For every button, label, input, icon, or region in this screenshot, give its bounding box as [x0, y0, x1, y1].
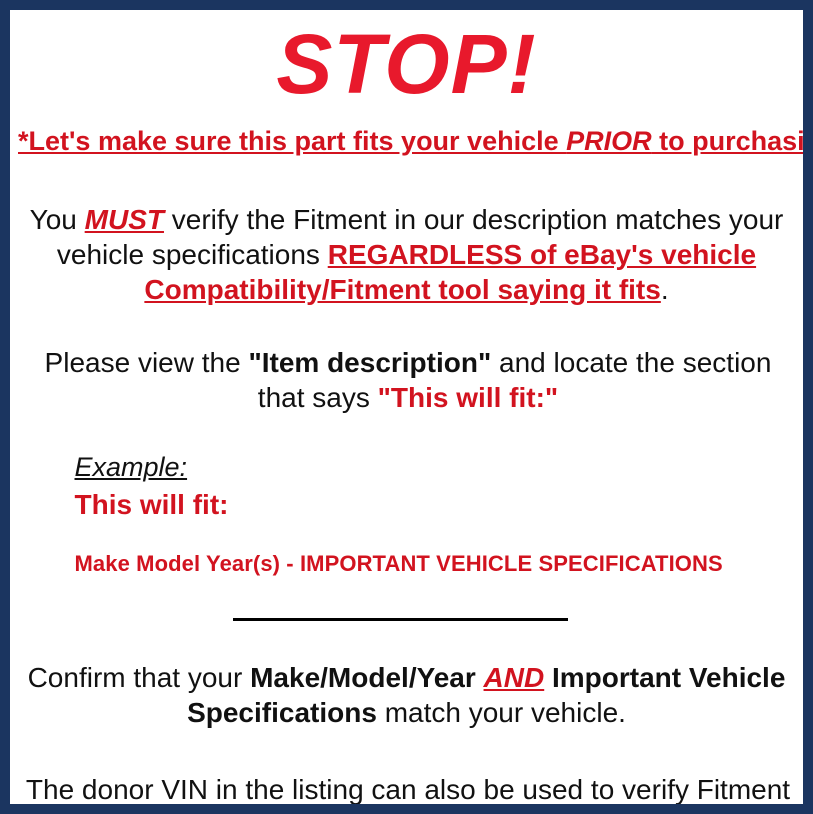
example-label: Example: — [37, 451, 777, 483]
paragraph-donor-vin: The donor VIN in the listing can also be… — [18, 730, 798, 814]
must-paragraph-seg1: You — [30, 204, 85, 235]
example-block: Example: This will fit: Make Model Year(… — [37, 415, 777, 578]
tagline-banner: *Let's make sure this part fits your veh… — [18, 110, 795, 158]
view-paragraph-seg1: Please view the — [45, 347, 249, 378]
paragraph-must-verify: You MUST verify the Fitment in our descr… — [22, 158, 792, 307]
notice-content-area: STOP! *Let's make sure this part fits yo… — [10, 10, 803, 804]
emphasis-and: AND — [484, 662, 545, 693]
tagline-tail-text: to purchasing* — [652, 126, 813, 156]
confirm-paragraph-space2 — [544, 662, 552, 693]
confirm-paragraph-seg4: match your vehicle. — [377, 697, 626, 728]
paragraph-view-description: Please view the "Item description" and l… — [18, 307, 798, 415]
must-paragraph-period: . — [661, 274, 669, 305]
tagline-emphasis-prior: PRIOR — [566, 126, 652, 156]
paragraph-confirm-match: Confirm that your Make/Model/Year AND Im… — [27, 626, 787, 730]
horizontal-divider-rule — [233, 618, 568, 621]
divider-container — [18, 578, 795, 626]
example-specification-line: Make Model Year(s) - IMPORTANT VEHICLE S… — [37, 521, 777, 578]
stop-headline: STOP! — [18, 10, 795, 110]
emphasis-make-model-year: Make/Model/Year — [250, 662, 476, 693]
emphasis-item-description: "Item description" — [248, 347, 491, 378]
fitment-notice-card: STOP! *Let's make sure this part fits yo… — [0, 0, 813, 814]
emphasis-must: MUST — [85, 204, 164, 235]
tagline-lead-text: *Let's make sure this part fits your veh… — [18, 126, 566, 156]
example-fit-heading: This will fit: — [37, 483, 777, 521]
confirm-paragraph-seg1: Confirm that your — [28, 662, 251, 693]
emphasis-this-will-fit: "This will fit:" — [378, 382, 559, 413]
confirm-paragraph-space1 — [476, 662, 484, 693]
